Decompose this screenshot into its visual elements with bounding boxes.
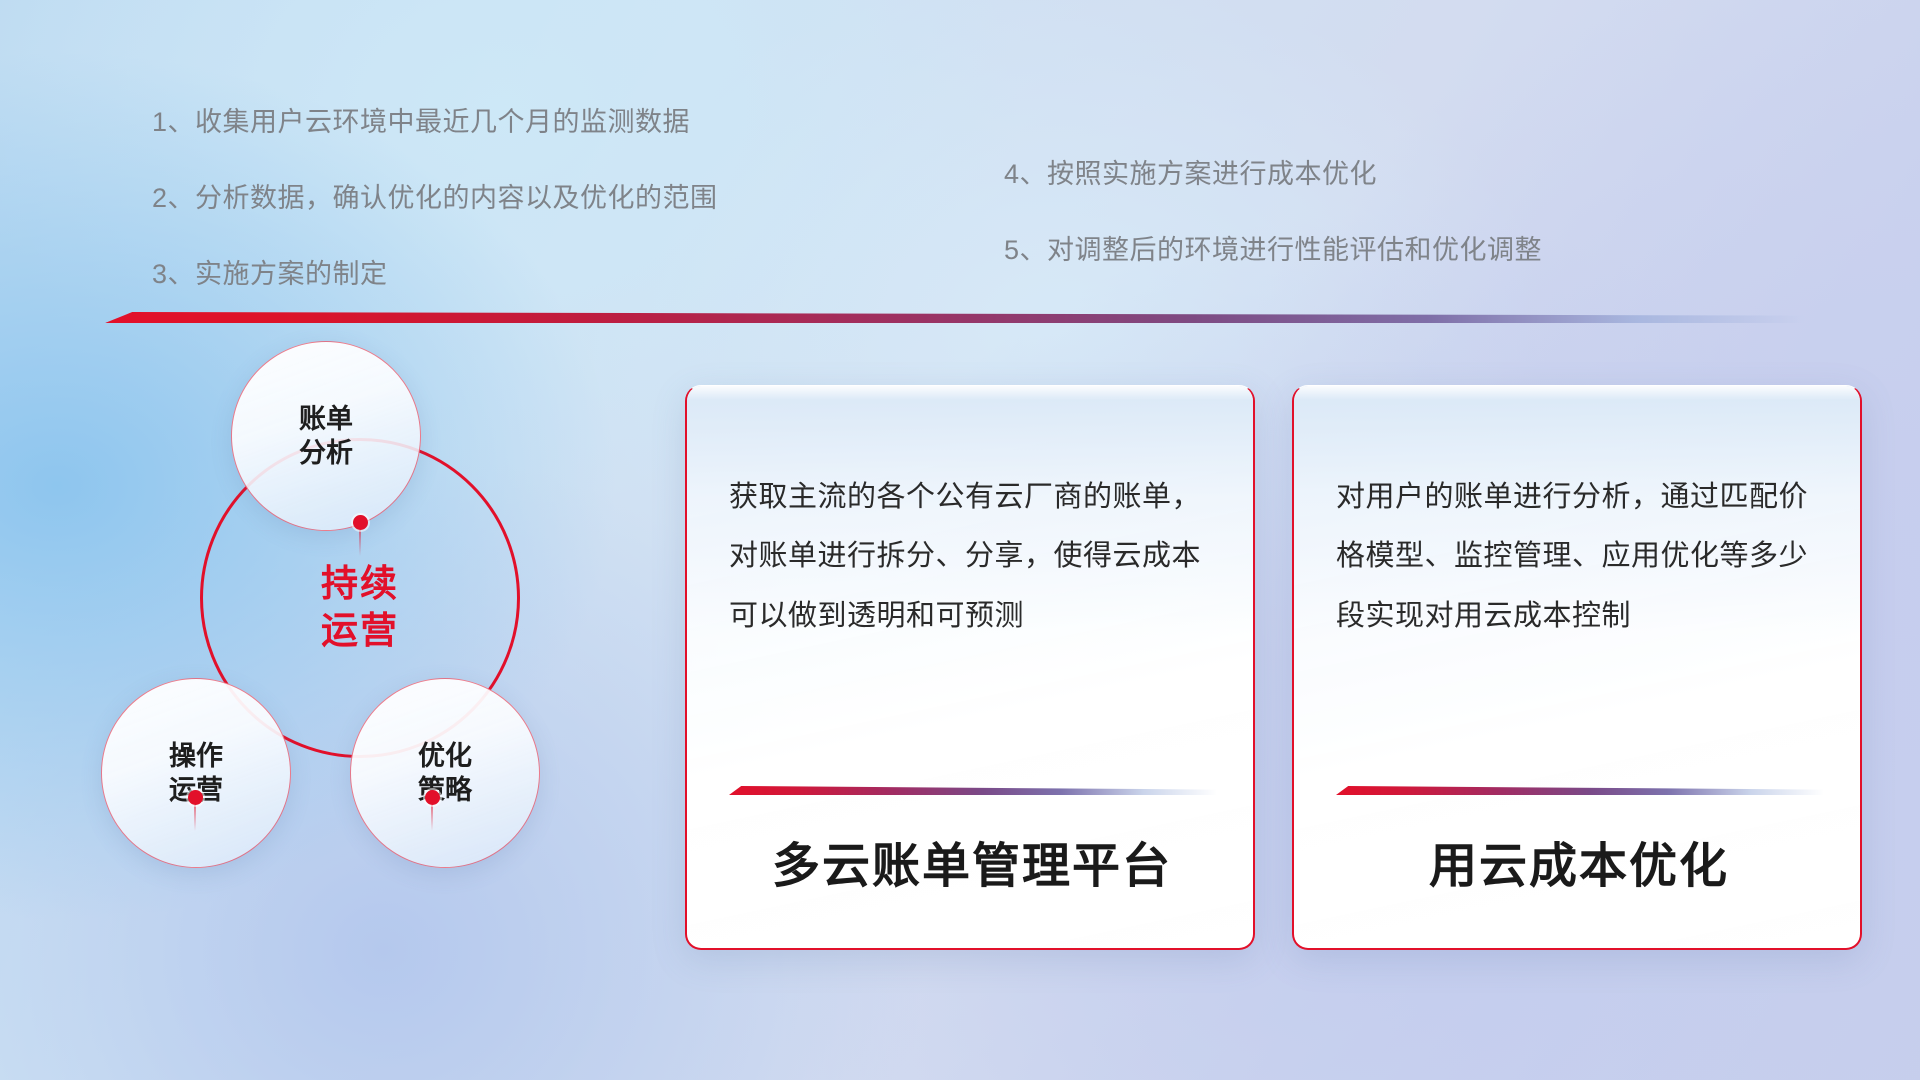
feature-card-multicloud-billing[interactable]: 获取主流的各个公有云厂商的账单，对账单进行拆分、分享，使得云成本可以做到透明和可… [685,385,1255,950]
process-step-4: 4、按照实施方案进行成本优化 [1004,152,1542,191]
center-label-line-2: 运营 [280,607,440,654]
connector-tail-top-icon [359,530,361,556]
card-1-accent-rule [729,786,1217,795]
card-2-description: 对用户的账单进行分析，通过匹配价格模型、监控管理、应用优化等多少段实现对用云成本… [1294,386,1860,646]
bubble-right-line-1: 优化 [418,739,472,773]
node-dot-right-icon [425,790,440,805]
bubble-left-line-1: 操作 [169,739,223,773]
bubble-top-line-1: 账单 [299,402,353,436]
bubble-top-line-2: 分析 [299,436,353,470]
connector-tail-right-icon [431,805,433,831]
center-label-line-1: 持续 [280,560,440,607]
process-steps-left: 1、收集用户云环境中最近几个月的监测数据 2、分析数据，确认优化的内容以及优化的… [152,100,718,328]
process-step-5: 5、对调整后的环境进行性能评估和优化调整 [1004,228,1542,267]
bubble-operations[interactable]: 操作 运营 [101,678,291,868]
process-step-1: 1、收集用户云环境中最近几个月的监测数据 [152,100,718,139]
process-step-2: 2、分析数据，确认优化的内容以及优化的范围 [152,176,718,215]
section-divider-line [105,312,1805,323]
card-1-title: 多云账单管理平台 [729,826,1215,896]
node-dot-left-icon [188,790,203,805]
node-dot-top-icon [353,515,368,530]
card-2-accent-rule [1336,786,1824,795]
process-steps-right: 4、按照实施方案进行成本优化 5、对调整后的环境进行性能评估和优化调整 [1004,152,1542,304]
connector-tail-left-icon [194,805,196,831]
bubble-optimization-strategy[interactable]: 优化 策略 [350,678,540,868]
card-1-description: 获取主流的各个公有云厂商的账单，对账单进行拆分、分享，使得云成本可以做到透明和可… [687,386,1253,646]
feature-card-cloud-cost-optimization[interactable]: 对用户的账单进行分析，通过匹配价格模型、监控管理、应用优化等多少段实现对用云成本… [1292,385,1862,950]
diagram-center-label: 持续 运营 [280,560,440,655]
bubble-bill-analysis[interactable]: 账单 分析 [231,341,421,531]
continuous-operations-diagram: 持续 运营 账单 分析 操作 运营 优化 策略 [95,348,625,948]
card-2-title: 用云成本优化 [1336,826,1822,896]
process-step-3: 3、实施方案的制定 [152,252,718,291]
